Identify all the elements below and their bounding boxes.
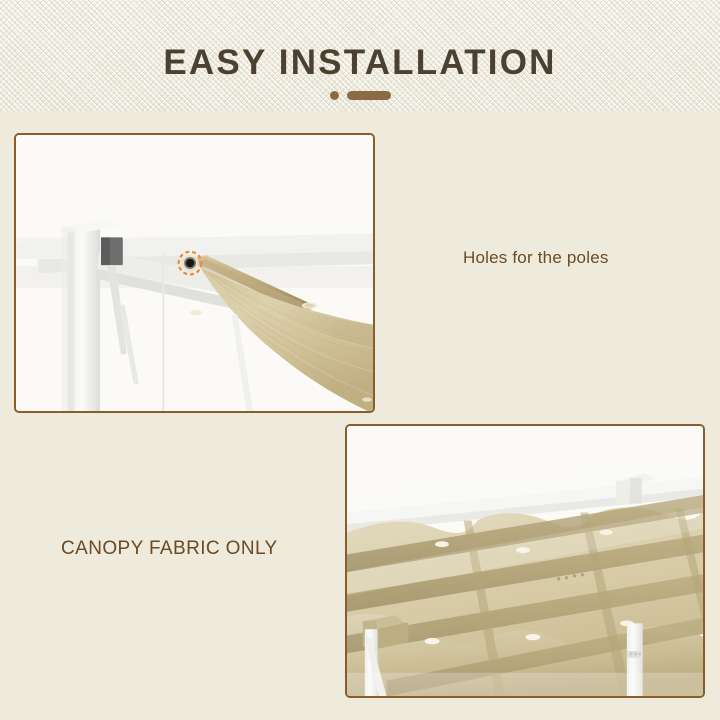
caption-holes-for-the-poles: Holes for the poles	[463, 246, 609, 270]
caption-canopy-fabric-only: CANOPY FABRIC ONLY	[61, 536, 278, 562]
divider-dot-icon	[330, 91, 339, 100]
title-divider	[0, 89, 720, 101]
pergola-underside-illustration	[347, 426, 703, 696]
divider-bar-icon	[347, 91, 391, 100]
pergola-underside-photo	[345, 424, 705, 698]
page-title: EASY INSTALLATION	[0, 42, 720, 84]
product-feature-card: EASY INSTALLATION	[0, 0, 720, 720]
header-band: EASY INSTALLATION	[0, 0, 720, 112]
pergola-corner-photo	[14, 133, 375, 413]
pergola-corner-illustration	[16, 135, 373, 411]
